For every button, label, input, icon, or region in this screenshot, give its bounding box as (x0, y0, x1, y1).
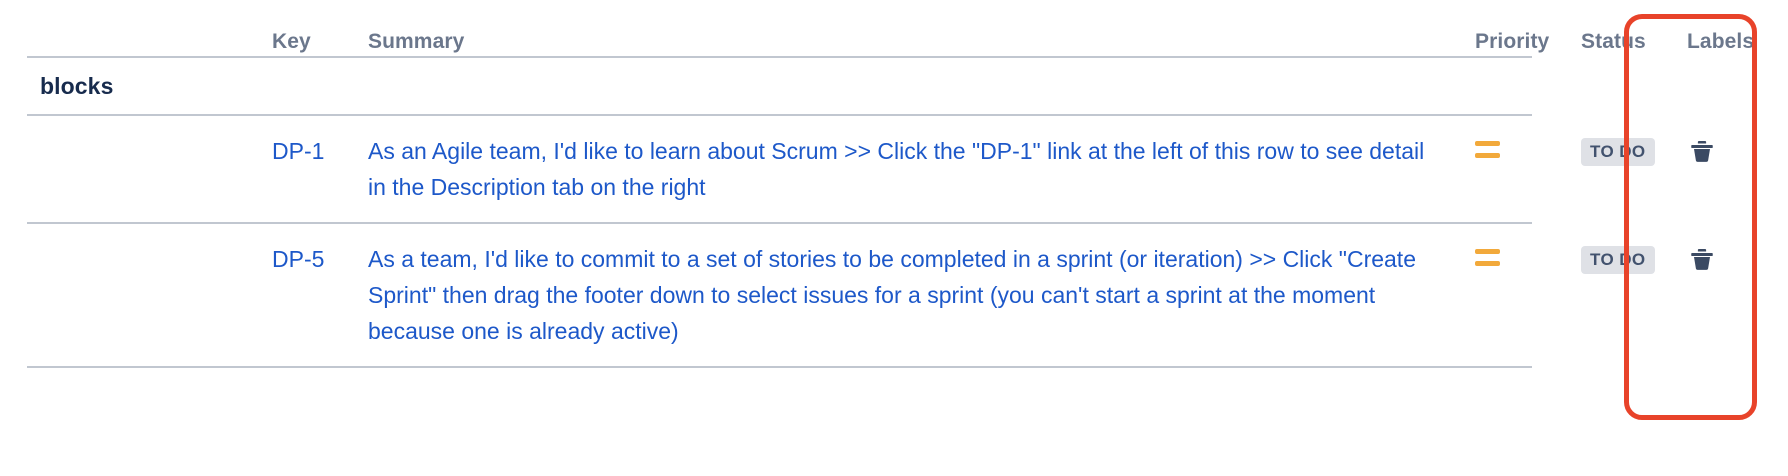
priority-medium-icon (1475, 141, 1500, 159)
status-badge[interactable]: TO DO (1581, 246, 1655, 274)
status-cell: TO DO (1557, 241, 1657, 274)
status-cell: TO DO (1557, 133, 1657, 166)
issue-summary-link[interactable]: As an Agile team, I'd like to learn abou… (365, 133, 1450, 205)
column-header-labels[interactable]: Labels (1657, 31, 1788, 52)
table-header-row: Key Summary Priority Status Labels (0, 0, 1788, 56)
priority-cell (1450, 241, 1557, 272)
priority-medium-icon (1475, 249, 1500, 267)
column-header-status[interactable]: Status (1557, 31, 1657, 52)
issue-summary-link[interactable]: As a team, I'd like to commit to a set o… (365, 241, 1450, 349)
issue-key-link[interactable]: DP-5 (268, 241, 365, 277)
table-row[interactable]: DP-1 As an Agile team, I'd like to learn… (0, 116, 1788, 222)
link-group-title: blocks (40, 73, 113, 100)
table-bottom-divider (27, 366, 1532, 368)
labels-cell (1657, 241, 1788, 275)
column-header-priority[interactable]: Priority (1450, 31, 1557, 52)
priority-cell (1450, 133, 1557, 164)
column-header-summary[interactable]: Summary (365, 31, 1450, 52)
issue-key-link[interactable]: DP-1 (268, 133, 365, 169)
labels-cell (1657, 133, 1788, 167)
issue-links-table: Key Summary Priority Status Labels block… (0, 0, 1788, 476)
link-group-blocks: blocks (0, 58, 1788, 114)
trash-icon[interactable] (1687, 245, 1788, 275)
column-header-key[interactable]: Key (268, 31, 365, 52)
trash-icon[interactable] (1687, 137, 1788, 167)
status-badge[interactable]: TO DO (1581, 138, 1655, 166)
table-row[interactable]: DP-5 As a team, I'd like to commit to a … (0, 224, 1788, 366)
